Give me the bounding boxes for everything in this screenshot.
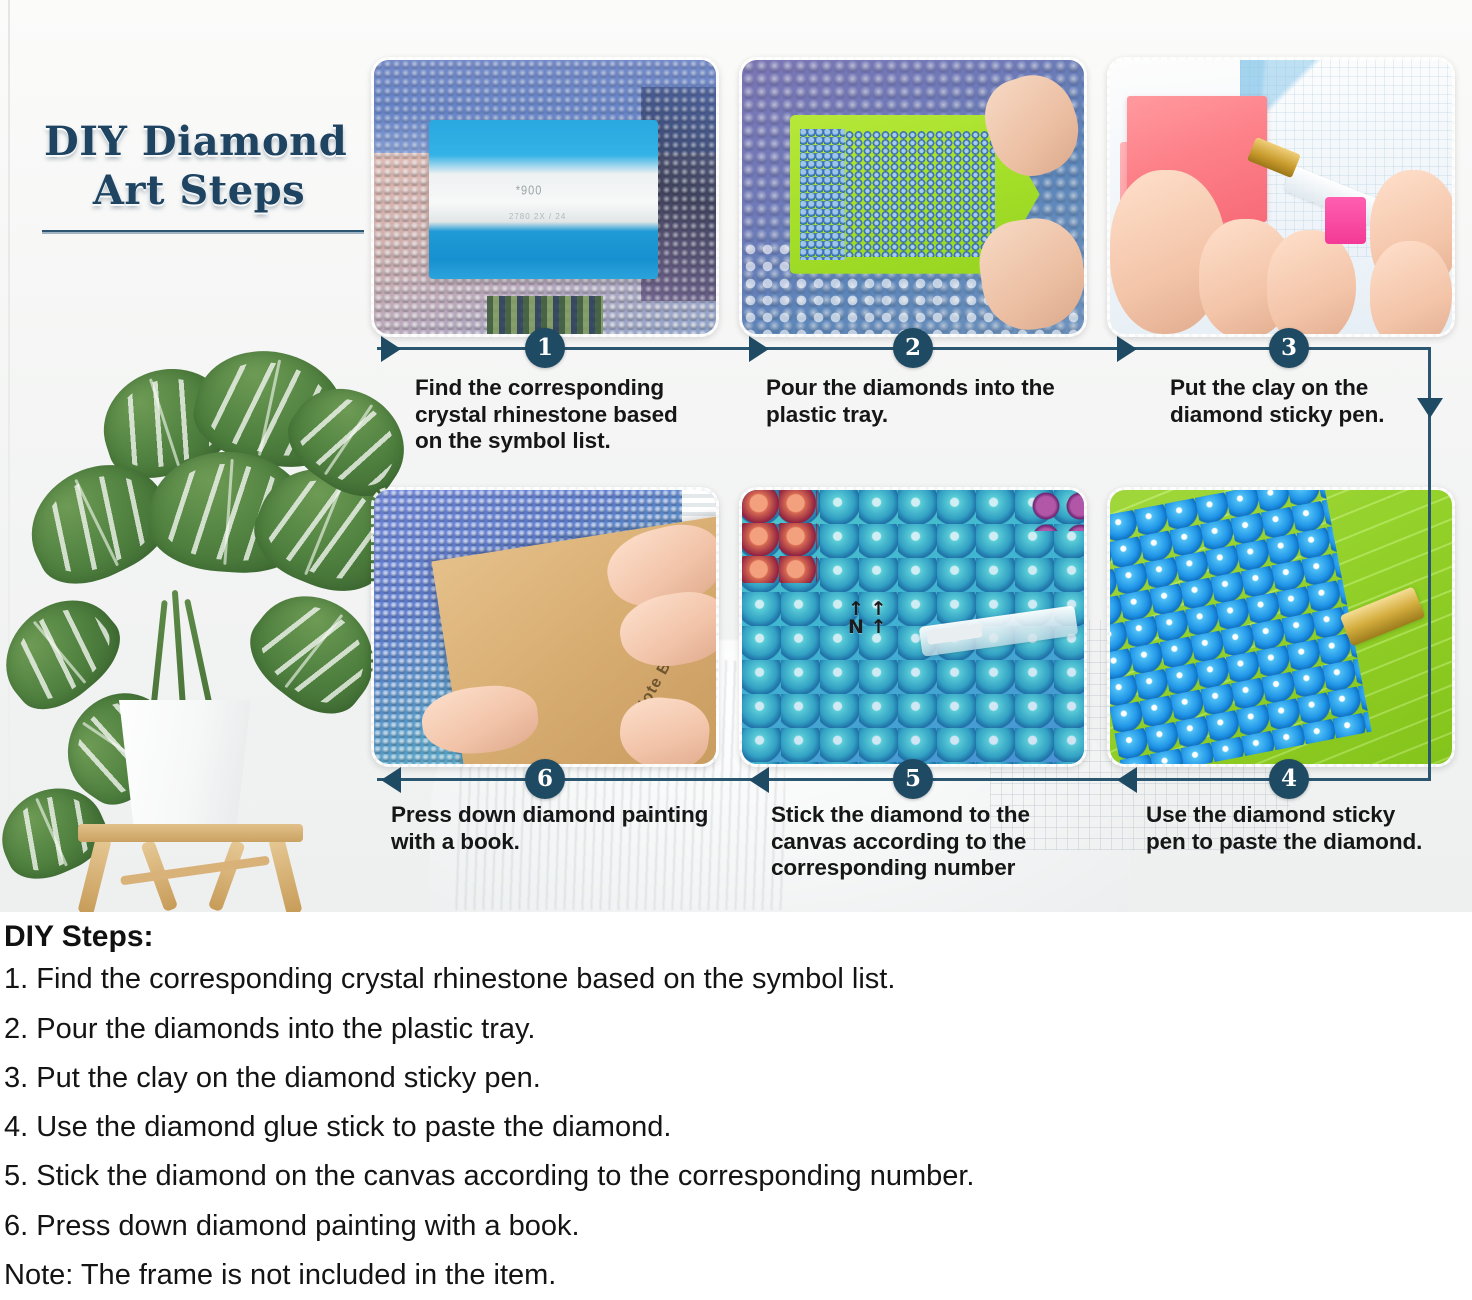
step-caption-4: Use the diamond sticky pen to paste the … [1146,802,1466,855]
flow-arrow-left-2 [749,767,769,793]
step-caption-6: Press down diamond painting with a book. [391,802,736,855]
product-instruction-image: DIY Diamond Art Steps *900 2780 2X / 24 [0,0,1472,1300]
canvas-symbol-row-2: N ↑ [848,618,886,636]
canvas-symbols: ↑ ↑ N ↑ [848,600,886,636]
step-image-3 [1107,57,1455,337]
diy-note-line: Note: The frame is not included in the i… [4,1256,1468,1294]
step-badge-5: 5 [893,759,933,799]
infographic-title: DIY Diamond Art Steps [34,118,364,234]
step-image-5: ↑ ↑ N ↑ [739,487,1087,767]
bag-sublabel: 2780 2X / 24 [509,212,566,221]
step-image-2 [739,57,1087,337]
step-badge-4: 4 [1269,759,1309,799]
flow-arrow-left-1 [381,767,401,793]
step-caption-3: Put the clay on the diamond sticky pen. [1170,375,1470,428]
canvas-symbol-row-1: ↑ ↑ [848,600,886,618]
diy-step-line-6: 6. Press down diamond painting with a bo… [4,1207,1468,1245]
infographic-panel: DIY Diamond Art Steps *900 2780 2X / 24 [0,0,1472,912]
step-badge-1: 1 [525,328,565,368]
diy-step-line-1: 1. Find the corresponding crystal rhines… [4,960,1468,998]
flow-arrow-right-1 [381,336,401,362]
plant-pot [110,700,260,830]
stool-seat [78,824,303,842]
diy-step-line-5: 5. Stick the diamond on the canvas accor… [4,1157,1468,1195]
bag-label: *900 [516,185,543,199]
flow-arrow-right-3 [1117,336,1137,362]
diy-steps-text-block: DIY Steps: 1. Find the corresponding cry… [4,918,1468,1300]
title-divider [42,230,364,234]
flow-arrow-left-3 [1117,767,1137,793]
title-line-2: Art Steps [34,167,364,216]
step-caption-2: Pour the diamonds into the plastic tray. [766,375,1086,428]
step-image-4 [1107,487,1455,767]
step-badge-2: 2 [893,328,933,368]
step-badge-3: 3 [1269,328,1309,368]
diy-step-line-3: 3. Put the clay on the diamond sticky pe… [4,1059,1468,1097]
step-caption-1: Find the corresponding crystal rhineston… [415,375,715,455]
step-badge-6: 6 [525,759,565,799]
step-caption-5: Stick the diamond to the canvas accordin… [771,802,1091,882]
diy-step-line-2: 2. Pour the diamonds into the plastic tr… [4,1010,1468,1048]
step-image-6: Note Book [371,487,719,767]
diy-steps-heading: DIY Steps: [4,918,1468,956]
diy-step-line-4: 4. Use the diamond glue stick to paste t… [4,1108,1468,1146]
flow-arrow-right-2 [749,336,769,362]
title-line-1: DIY Diamond [34,118,364,167]
step-image-1: *900 2780 2X / 24 [371,57,719,337]
